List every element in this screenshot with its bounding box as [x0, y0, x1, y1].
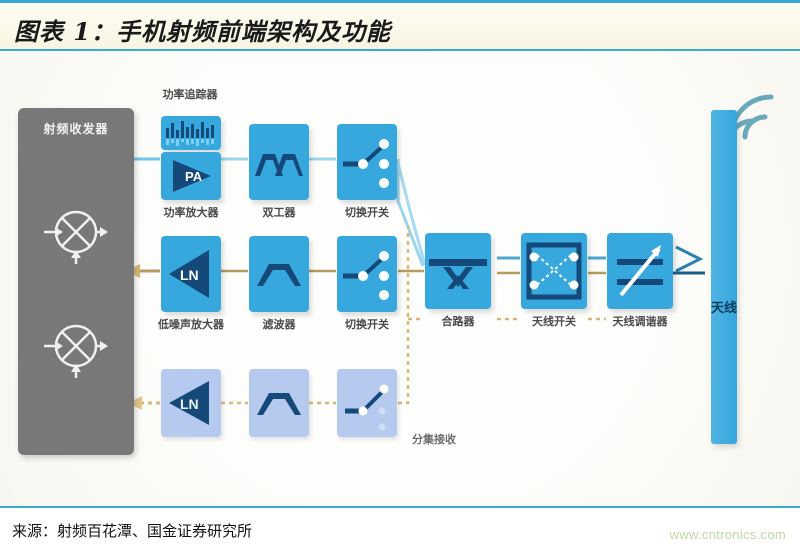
rf-transceiver-block[interactable]: 射频收发器	[18, 108, 134, 455]
lna-amplifier-icon: LN	[161, 369, 221, 437]
block-label-lna: 低噪声放大器	[146, 316, 236, 332]
rf-transceiver-label: 射频收发器	[18, 120, 134, 137]
combiner-block[interactable]	[425, 233, 491, 309]
filter-block[interactable]	[249, 236, 309, 312]
duplexer-block[interactable]	[249, 124, 309, 200]
diversity-switch-block[interactable]	[337, 369, 397, 437]
diversity-lna-block[interactable]: LN	[161, 369, 221, 437]
switch-block-transmit[interactable]	[337, 124, 397, 200]
switch-icon	[337, 124, 397, 200]
diversity-filter-block[interactable]	[249, 369, 309, 437]
power-amplifier-block[interactable]: PA	[161, 152, 221, 200]
block-label-switch-transmit: 切换开关	[327, 204, 407, 220]
diagram-canvas: 射频收发器	[0, 51, 800, 506]
antenna-tuner-icon	[607, 233, 673, 309]
antenna-switch-icon	[521, 233, 587, 309]
block-label-power-amplifier: 功率放大器	[151, 204, 231, 220]
lna-amplifier-icon: LN	[161, 236, 221, 312]
watermark-text: www.cntronics.com	[670, 527, 786, 542]
block-label-combiner: 合路器	[418, 313, 498, 329]
pa-amplifier-icon: PA	[161, 152, 221, 200]
power-tracker-block[interactable]	[161, 116, 221, 150]
diversity-note-label: 分集接收	[412, 431, 456, 447]
block-label-antenna-switch: 天线开关	[514, 313, 594, 329]
page-title: 图表 1：手机射频前端架构及功能	[14, 12, 391, 47]
mixer-icon	[44, 314, 108, 378]
figure-page: 图表 1：手机射频前端架构及功能	[0, 0, 800, 557]
footer-divider	[0, 506, 800, 508]
switch-icon	[337, 236, 397, 312]
power-tracker-label: 功率追踪器	[150, 86, 230, 102]
antenna-switch-block[interactable]	[521, 233, 587, 309]
envelope-tracking-icon	[161, 116, 221, 150]
duplexer-icon	[249, 124, 309, 200]
switch-icon	[337, 369, 397, 437]
source-line: 来源：射频百花潭、国金证券研究所	[12, 520, 252, 541]
filter-icon	[249, 369, 309, 437]
lna-text: LN	[180, 267, 199, 283]
figure-header: 图表 1：手机射频前端架构及功能	[0, 0, 800, 51]
block-label-filter: 滤波器	[239, 316, 319, 332]
switch-block-receive[interactable]	[337, 236, 397, 312]
mixer-icon	[44, 200, 108, 264]
block-label-switch-receive: 切换开关	[327, 316, 407, 332]
block-label-duplexer: 双工器	[239, 204, 319, 220]
antenna-tuner-block[interactable]	[607, 233, 673, 309]
pa-text: PA	[185, 169, 203, 184]
lna-text: LN	[180, 396, 199, 412]
antenna-label: 天线	[711, 300, 737, 315]
combiner-icon	[425, 233, 491, 309]
antenna-block[interactable]: 天线	[711, 110, 737, 444]
block-label-antenna-tuner: 天线调谐器	[598, 313, 682, 329]
lna-block[interactable]: LN	[161, 236, 221, 312]
filter-icon	[249, 236, 309, 312]
